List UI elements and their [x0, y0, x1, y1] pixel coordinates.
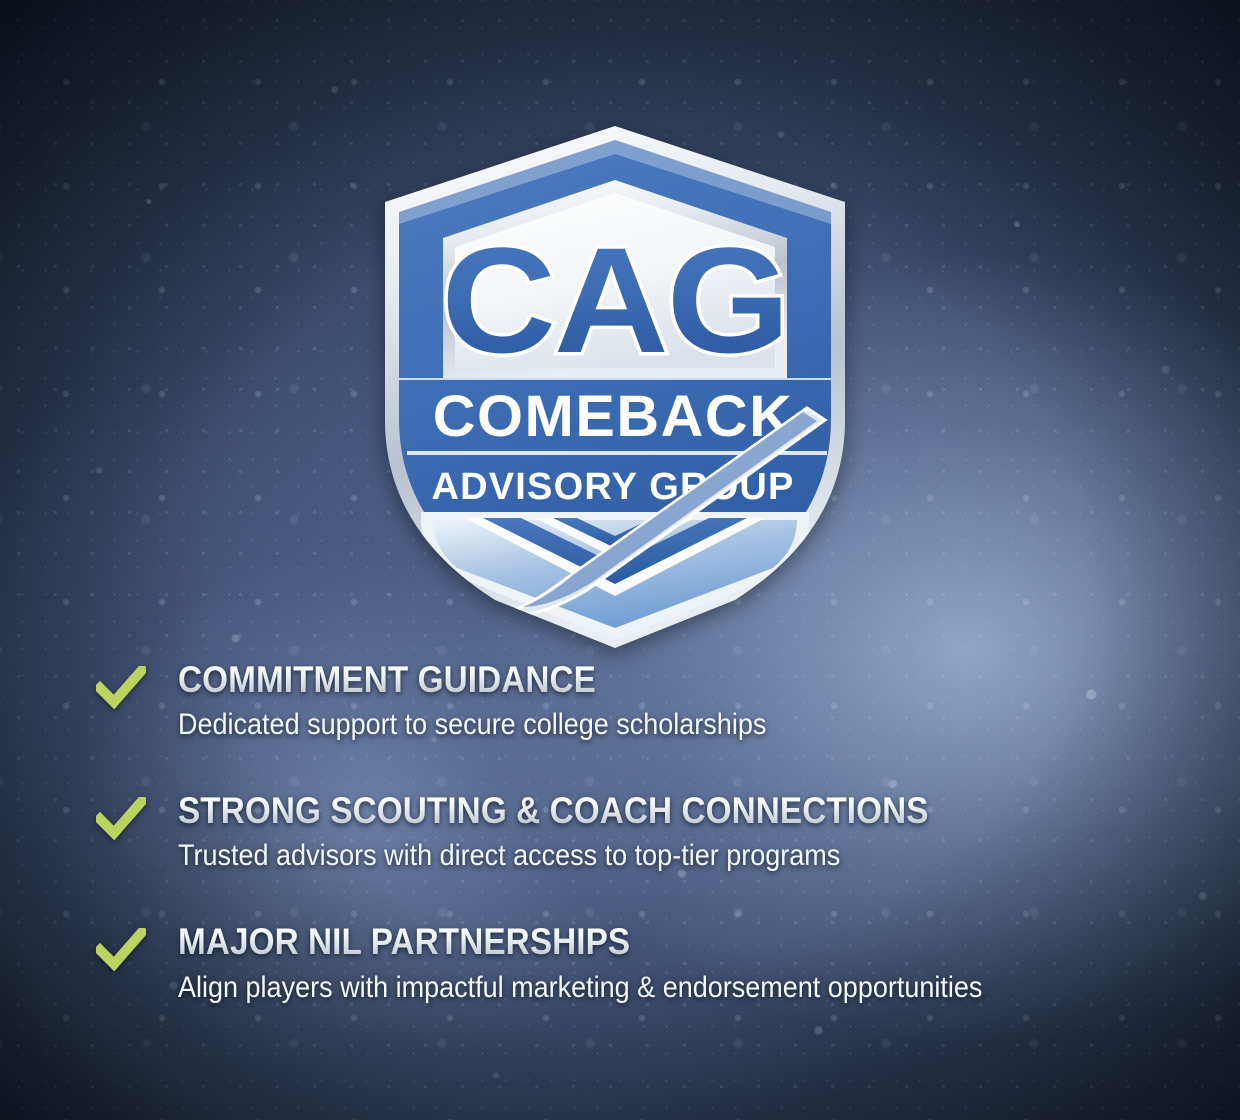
feature-subtitle: Dedicated support to secure college scho… — [178, 707, 1058, 743]
check-icon — [96, 797, 146, 841]
feature-heading: STRONG SCOUTING & COACH CONNECTIONS — [178, 791, 1058, 830]
feature-item: COMMITMENT GUIDANCE Dedicated support to… — [96, 660, 1156, 743]
feature-item: MAJOR NIL PARTNERSHIPS Align players wit… — [96, 922, 1156, 1005]
feature-heading: MAJOR NIL PARTNERSHIPS — [178, 922, 1058, 961]
feature-item: STRONG SCOUTING & COACH CONNECTIONS Trus… — [96, 791, 1156, 874]
cag-lettermark: CAG — [441, 216, 788, 384]
svg-text:CAG: CAG — [441, 216, 788, 384]
cag-logo: CAG COMEBACK ADVISORY GROUP — [355, 120, 875, 650]
feature-heading: COMMITMENT GUIDANCE — [178, 660, 1058, 699]
promo-poster: CAG COMEBACK ADVISORY GROUP — [0, 0, 1240, 1120]
feature-subtitle: Align players with impactful marketing &… — [178, 970, 1058, 1006]
svg-text:COMEBACK: COMEBACK — [433, 385, 794, 449]
check-icon — [96, 666, 146, 710]
check-icon — [96, 928, 146, 972]
shield-lower-panel — [421, 512, 809, 640]
feature-subtitle: Trusted advisors with direct access to t… — [178, 838, 1058, 874]
feature-list: COMMITMENT GUIDANCE Dedicated support to… — [96, 660, 1156, 1006]
